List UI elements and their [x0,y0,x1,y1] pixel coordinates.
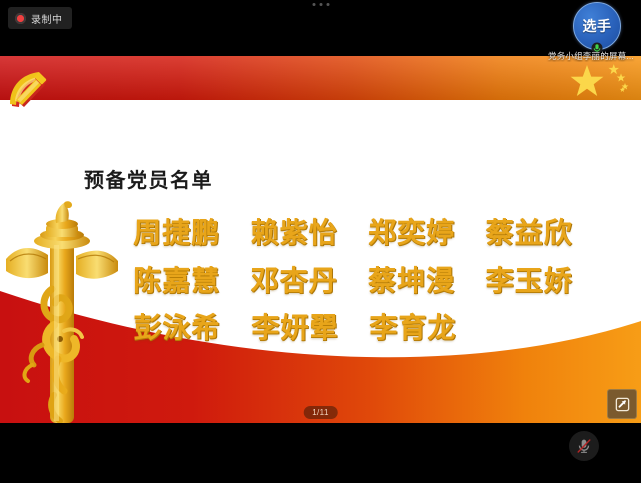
recording-label: 录制中 [31,11,63,26]
expand-screen-button[interactable] [607,389,637,419]
page-indicator: 1/11 [303,406,338,419]
record-dot-icon [15,13,26,24]
bottom-control-bar [0,423,641,483]
china-flag-stars-icon [565,59,635,99]
screen-share-window: 录制中 选手 党务小组李丽的屏幕... [0,0,641,483]
drag-handle-dots-icon[interactable] [312,3,329,6]
name-item: 陈嘉慧 [118,262,236,300]
name-item: 李玉娇 [471,262,589,300]
dot [319,3,322,6]
name-item: 赖紫怡 [236,214,354,252]
recording-indicator: 录制中 [8,7,72,29]
name-item: 郑奕婷 [353,214,471,252]
name-item: 周捷鹏 [118,214,236,252]
top-overlay-bar: 录制中 选手 [0,0,641,56]
shared-slide: 预备党员名单 周捷鹏 赖紫怡 郑奕婷 蔡益欣 陈嘉慧 邓杏丹 蔡坤漫 李玉娇 彭… [0,56,641,423]
huabiao-column-icon [2,199,122,423]
party-emblem-icon [2,64,60,122]
name-row: 陈嘉慧 邓杏丹 蔡坤漫 李玉娇 [118,262,588,300]
name-item: 邓杏丹 [236,262,354,300]
dot [326,3,329,6]
name-item: 李育龙 [354,309,472,347]
participant-avatar[interactable]: 选手 [571,2,623,54]
slide-top-banner [0,56,641,100]
name-item: 蔡益欣 [471,214,589,252]
name-item: 李妍翚 [236,309,354,347]
share-source-caption: 党务小组李丽的屏幕... [543,50,639,62]
name-list: 周捷鹏 赖紫怡 郑奕婷 蔡益欣 陈嘉慧 邓杏丹 蔡坤漫 李玉娇 彭泳希 李妍翚 … [118,214,588,357]
name-item: 彭泳希 [118,309,236,347]
dot [312,3,315,6]
name-row: 周捷鹏 赖紫怡 郑奕婷 蔡益欣 [118,214,588,252]
banner-shading [0,56,641,100]
expand-screen-icon [614,396,631,413]
microphone-mute-button[interactable] [569,431,599,461]
name-item: 蔡坤漫 [353,262,471,300]
avatar-label: 选手 [583,16,612,36]
page-title: 预备党员名单 [84,164,213,193]
name-row: 彭泳希 李妍翚 李育龙 [118,309,588,347]
microphone-muted-icon [574,436,594,456]
